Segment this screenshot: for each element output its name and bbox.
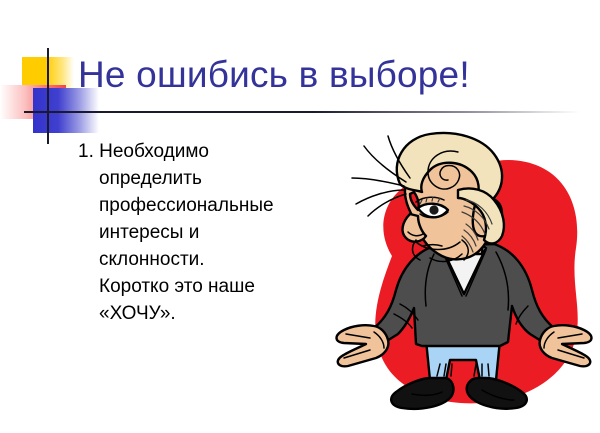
decoration-red-square <box>0 85 66 119</box>
body-line: определить <box>78 165 338 192</box>
shrugging-man-illustration: .ol { stroke:#000; stroke-width:2.4; str… <box>330 128 600 433</box>
decoration-yellow-square <box>22 57 74 99</box>
presentation-slide: Не ошибись в выборе! 1. Необходимо опред… <box>0 0 600 433</box>
left-shoe <box>391 378 453 409</box>
body-line: «ХОЧУ». <box>78 300 338 327</box>
slide-title: Не ошибись в выборе! <box>78 53 470 97</box>
decoration-horizontal-rule <box>24 111 580 113</box>
left-hand <box>337 325 389 366</box>
body-line: профессиональные <box>78 192 338 219</box>
body-line: склонности. <box>78 246 338 273</box>
slide-body-text: 1. Необходимо определить профессиональны… <box>78 138 338 327</box>
body-line: 1. Необходимо <box>78 138 338 165</box>
decoration-vertical-rule <box>47 48 49 144</box>
body-line: Коротко это наше <box>78 273 338 300</box>
body-line: интересы и <box>78 219 338 246</box>
